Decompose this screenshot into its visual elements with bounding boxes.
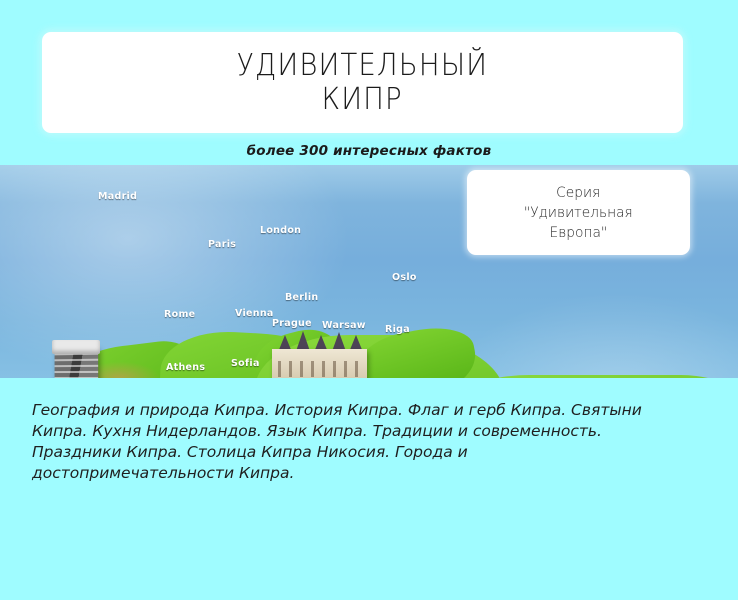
map-city-label: Riga bbox=[385, 324, 410, 335]
map-city-label: Berlin bbox=[285, 292, 318, 303]
description-text: География и природа Кипра. История Кипра… bbox=[32, 400, 684, 484]
series-line-2: "Удивительная bbox=[524, 203, 633, 223]
description-line: Кипра. Кухня Нидерландов. Язык Кипра. Тр… bbox=[32, 421, 684, 442]
map-city-label: Madrid bbox=[98, 191, 137, 202]
map-city-label: Paris bbox=[208, 239, 236, 250]
slide-page: УДИВИТЕЛЬНЫЙ КИПР более 300 интересных ф… bbox=[0, 0, 738, 600]
description-line: достопримечательности Кипра. bbox=[32, 463, 684, 484]
page-title-line-2: КИПР bbox=[322, 83, 403, 117]
map-city-label: Rome bbox=[164, 309, 195, 320]
description-line: Праздники Кипра. Столица Кипра Никосия. … bbox=[32, 442, 684, 463]
series-line-3: Европа" bbox=[550, 223, 608, 243]
map-city-label: Oslo bbox=[392, 272, 417, 283]
page-title-line-1: УДИВИТЕЛЬНЫЙ bbox=[237, 49, 488, 83]
map-city-label: Sofia bbox=[231, 358, 260, 369]
description-line: География и природа Кипра. История Кипра… bbox=[32, 400, 684, 421]
subtitle: более 300 интересных фактов bbox=[0, 143, 738, 159]
map-city-label: London bbox=[260, 225, 301, 236]
series-card: Серия "Удивительная Европа" bbox=[467, 170, 690, 255]
map-city-label: Warsaw bbox=[322, 320, 366, 331]
title-card: УДИВИТЕЛЬНЫЙ КИПР bbox=[42, 32, 683, 133]
series-line-1: Серия bbox=[556, 183, 600, 203]
europe-map-banner: Madrid London Paris Oslo Berlin Rome Vie… bbox=[0, 165, 738, 378]
map-city-label: Vienna bbox=[235, 308, 274, 319]
map-city-label: Athens bbox=[166, 362, 205, 373]
map-city-label: Prague bbox=[272, 318, 312, 329]
skyscraper-dark-icon bbox=[46, 337, 106, 378]
castle-chateau-icon bbox=[272, 331, 367, 378]
